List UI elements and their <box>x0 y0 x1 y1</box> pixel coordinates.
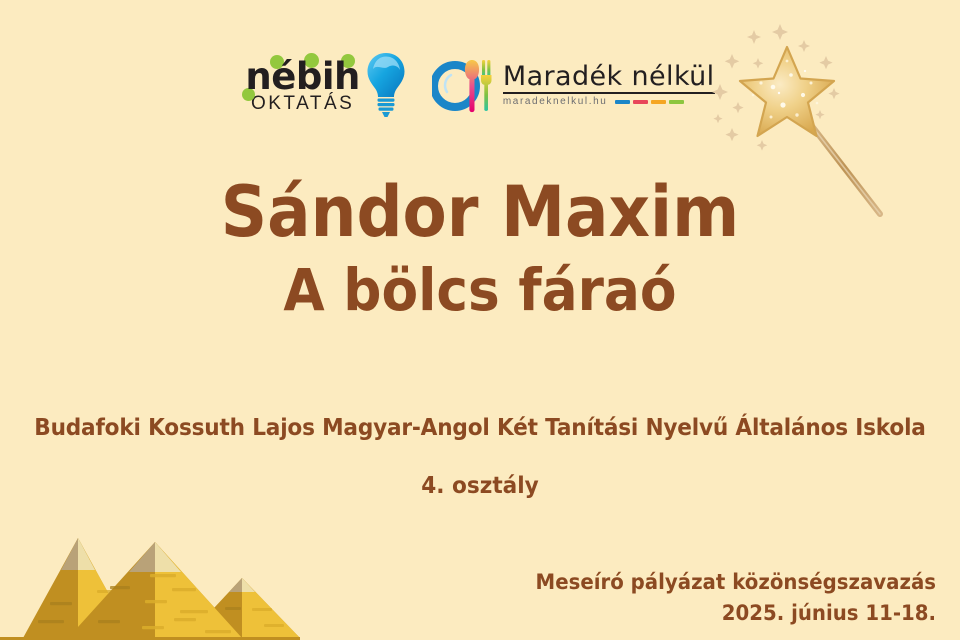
event-dates: 2025. június 11-18. <box>536 598 936 628</box>
school-name: Budafoki Kossuth Lajos Magyar-Angol Két … <box>29 415 931 441</box>
dash-orange <box>651 100 666 104</box>
plate-cutlery-icon <box>432 57 494 113</box>
slide-canvas: nébih OKTATÁS <box>0 0 960 640</box>
footer-block: Meseíró pályázat közönségszavazás 2025. … <box>510 567 936 628</box>
nebih-logo: nébih OKTATÁS <box>245 52 405 118</box>
school-class: 4. osztály <box>29 473 931 499</box>
maradek-nelkul-rule <box>503 92 715 94</box>
maradek-nelkul-wordmark: Maradék nélkül maradeknelkul.hu <box>503 63 715 107</box>
dash-blue <box>615 100 630 104</box>
magic-wand-icon <box>712 18 942 248</box>
lightbulb-icon <box>366 52 406 118</box>
pyramids-illustration <box>0 520 300 640</box>
maradek-nelkul-subrow: maradeknelkul.hu <box>503 97 715 107</box>
dash-red <box>633 100 648 104</box>
maradek-nelkul-dashes <box>615 100 684 104</box>
nebih-wordmark: nébih OKTATÁS <box>245 58 359 113</box>
maradek-nelkul-title: Maradék nélkül <box>503 63 715 90</box>
dash-green <box>669 100 684 104</box>
school-block: Budafoki Kossuth Lajos Magyar-Angol Két … <box>0 415 960 499</box>
nebih-logo-text: nébih <box>245 58 359 95</box>
maradek-nelkul-url: maradeknelkul.hu <box>503 97 608 107</box>
maradek-nelkul-logo: Maradék nélkül maradeknelkul.hu <box>432 57 715 113</box>
event-name: Meseíró pályázat közönségszavazás <box>536 567 936 597</box>
story-title: A bölcs fáraó <box>38 259 921 323</box>
